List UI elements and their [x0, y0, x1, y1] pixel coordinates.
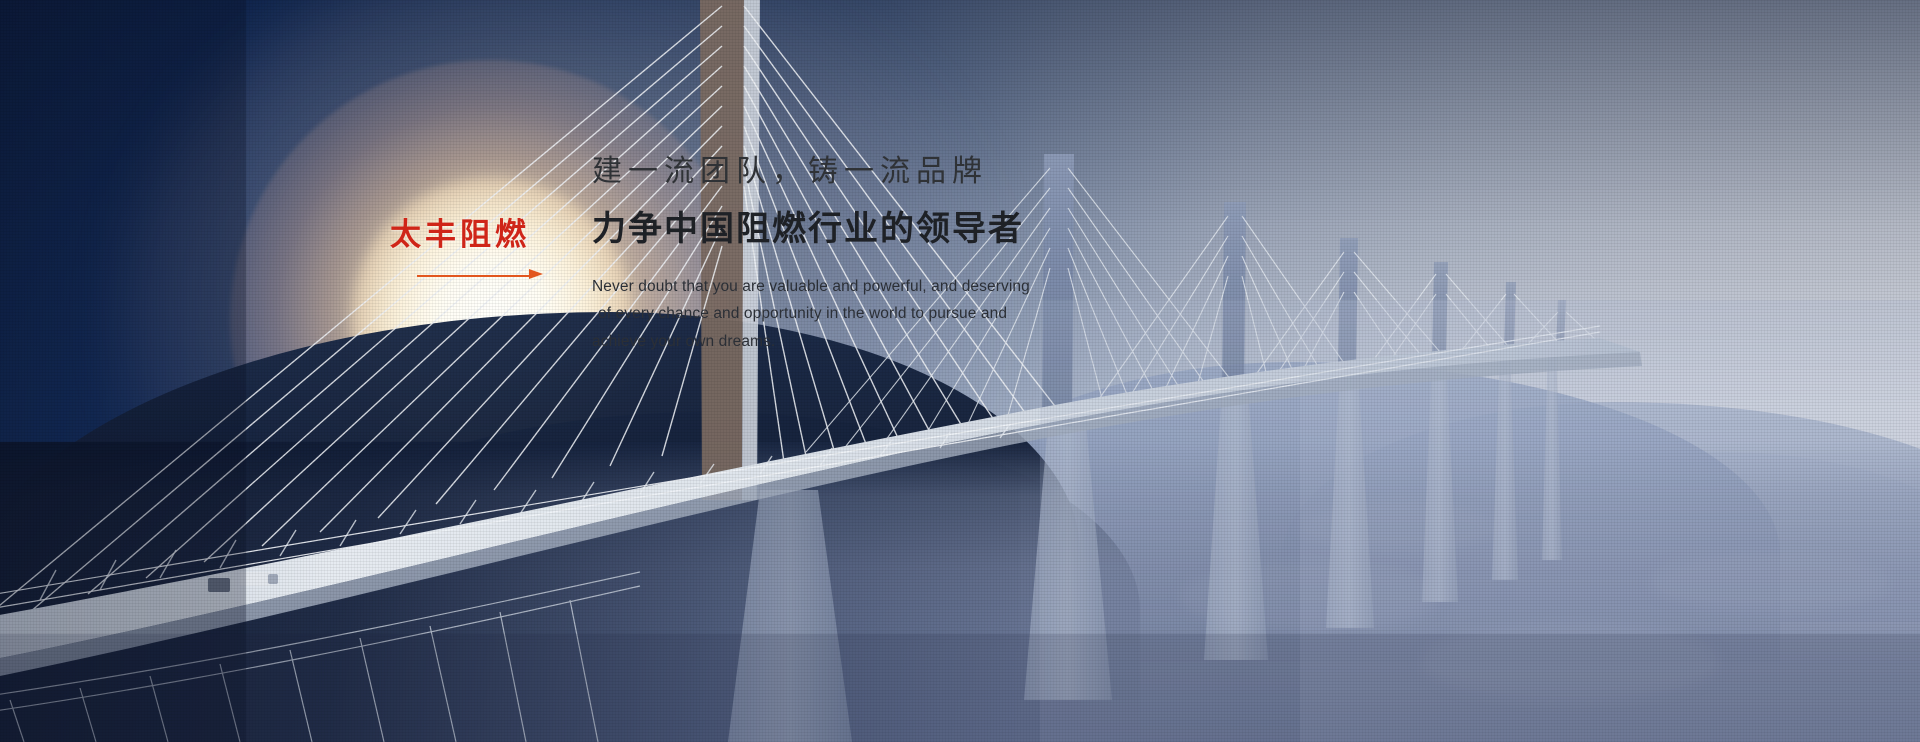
arrow-shaft: [417, 275, 529, 277]
arrow-right-icon: [417, 268, 543, 282]
description-line-3: achieve your own dreams.: [592, 328, 1062, 356]
description-line-1: Never doubt that you are valuable and po…: [592, 273, 1062, 301]
arrow-head: [529, 269, 543, 279]
hero-banner: 太丰阻燃 建一流团队，铸一流品牌 力争中国阻燃行业的领导者 Never doub…: [0, 0, 1920, 742]
brand-logo-text: 太丰阻燃: [375, 218, 545, 252]
banner-content: 太丰阻燃 建一流团队，铸一流品牌 力争中国阻燃行业的领导者 Never doub…: [0, 0, 1920, 742]
brand-logo[interactable]: 太丰阻燃: [375, 218, 545, 282]
headline-primary: 建一流团队，铸一流品牌: [592, 152, 1112, 193]
headline-block: 建一流团队，铸一流品牌 力争中国阻燃行业的领导者 Never doubt tha…: [592, 152, 1112, 355]
headline-secondary: 力争中国阻燃行业的领导者: [592, 207, 1112, 251]
description-paragraph: Never doubt that you are valuable and po…: [592, 273, 1062, 356]
description-line-2: of every chance and opportunity in the w…: [592, 300, 1062, 328]
